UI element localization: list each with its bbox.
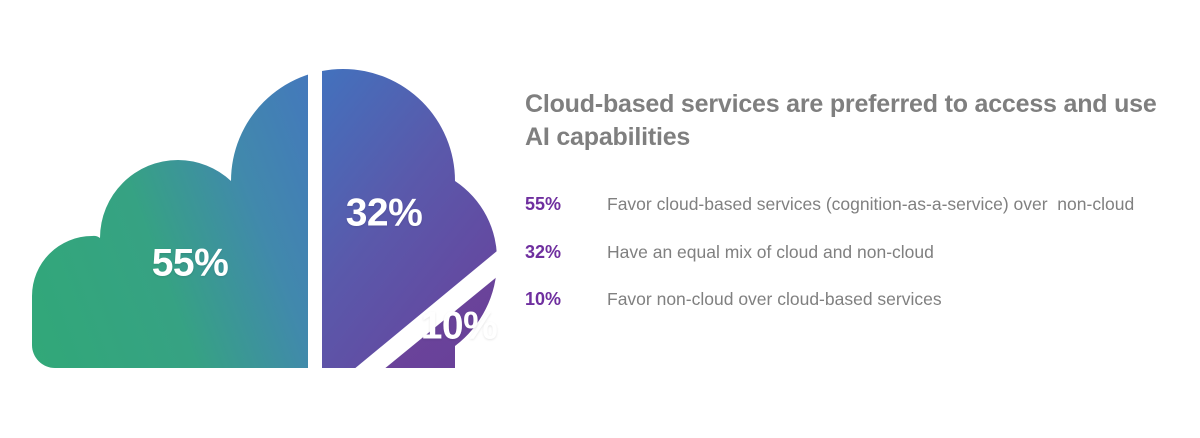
cloud-slice-55 xyxy=(0,0,308,438)
cloud-shape-graphic xyxy=(0,0,520,438)
cloud-slice-label-55: 55% xyxy=(152,244,229,283)
legend-percent-55: 55% xyxy=(525,192,607,218)
text-panel: Cloud-based services are preferred to ac… xyxy=(525,0,1185,438)
legend-label-55: Favor cloud-based services (cognition-as… xyxy=(607,192,1173,217)
cloud-chart: 55% 32% 10% xyxy=(0,0,520,438)
legend-item-10: 10% Favor non-cloud over cloud-based ser… xyxy=(525,287,1173,313)
legend-percent-10: 10% xyxy=(525,287,607,313)
cloud-slice-label-10: 10% xyxy=(421,307,498,346)
cloud-slice-label-32: 32% xyxy=(346,194,423,233)
legend-label-10: Favor non-cloud over cloud-based service… xyxy=(607,287,1173,312)
legend: 55% Favor cloud-based services (cognitio… xyxy=(525,192,1173,335)
legend-item-32: 32% Have an equal mix of cloud and non-c… xyxy=(525,240,1173,266)
legend-label-32: Have an equal mix of cloud and non-cloud xyxy=(607,240,1173,265)
legend-percent-32: 32% xyxy=(525,240,607,266)
legend-item-55: 55% Favor cloud-based services (cognitio… xyxy=(525,192,1173,218)
cloud-infographic: 55% 32% 10% Cloud-based services are pre… xyxy=(0,0,1200,438)
chart-title: Cloud-based services are preferred to ac… xyxy=(525,88,1165,154)
